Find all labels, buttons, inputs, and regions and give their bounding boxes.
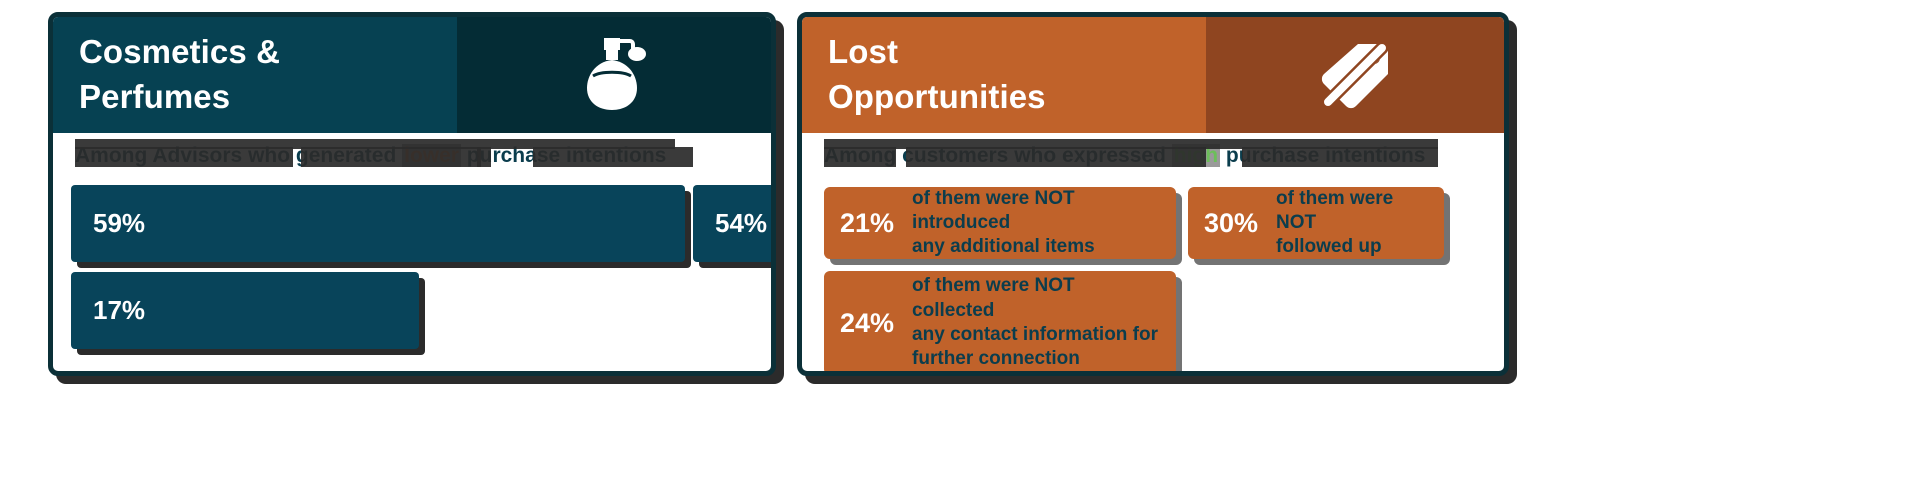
card-body: Lost Opportunities bbox=[797, 12, 1509, 376]
subtitle-strip: Among customers who expressed high purch… bbox=[802, 133, 1504, 179]
tag-slash-icon bbox=[1312, 32, 1398, 118]
bar-59: 59% bbox=[71, 185, 685, 262]
redaction-bar bbox=[1242, 147, 1438, 167]
stat-description: of them were NOT followed up bbox=[1276, 187, 1430, 260]
stat-percent: 24% bbox=[840, 308, 894, 339]
subtitle-strip: Among Advisors who generated lower purch… bbox=[53, 133, 771, 179]
bar-value: 59% bbox=[93, 208, 145, 239]
bar-value: 54% bbox=[715, 208, 767, 239]
redaction-bar bbox=[824, 147, 896, 167]
card-header: Cosmetics & Perfumes bbox=[53, 17, 771, 133]
header-title-zone: Lost Opportunities bbox=[802, 17, 1206, 133]
header-icon-zone bbox=[1206, 17, 1504, 133]
bar-row: 17% bbox=[71, 272, 771, 349]
card-lost-opportunities: Lost Opportunities bbox=[797, 12, 1509, 376]
stat-box-21: 21% of them were NOT introduced any addi… bbox=[824, 187, 1176, 259]
card-cosmetics-perfumes: Cosmetics & Perfumes bbox=[48, 12, 776, 376]
stat-percent: 21% bbox=[840, 208, 894, 239]
stat-row: 24% of them were NOT collected any conta… bbox=[824, 271, 1504, 375]
stat-row: 21% of them were NOT introduced any addi… bbox=[824, 187, 1504, 259]
card-title: Lost Opportunities bbox=[828, 30, 1046, 120]
redaction-bar bbox=[75, 139, 675, 149]
bar-value: 17% bbox=[93, 295, 145, 326]
stat-box-30: 30% of them were NOT followed up bbox=[1188, 187, 1444, 259]
stat-box-24: 24% of them were NOT collected any conta… bbox=[824, 271, 1176, 375]
redaction-bar bbox=[824, 139, 1438, 149]
bar-17: 17% bbox=[71, 272, 419, 349]
redaction-bar bbox=[477, 147, 491, 167]
redaction-bar bbox=[906, 147, 1206, 167]
header-title-zone: Cosmetics & Perfumes bbox=[53, 17, 457, 133]
slide-canvas: Cosmetics & Perfumes bbox=[0, 0, 1905, 477]
redaction-bar bbox=[75, 147, 293, 167]
stat-description: of them were NOT collected any contact i… bbox=[912, 274, 1162, 371]
redaction-bar bbox=[301, 147, 481, 167]
stats-area: 21% of them were NOT introduced any addi… bbox=[802, 179, 1504, 375]
header-icon-zone bbox=[457, 17, 771, 133]
card-body: Cosmetics & Perfumes bbox=[48, 12, 776, 376]
bar-row: 59% 54% bbox=[71, 185, 776, 262]
bars-area: 59% 54% 17% bbox=[53, 179, 771, 349]
perfume-bottle-icon bbox=[571, 32, 657, 118]
card-title: Cosmetics & Perfumes bbox=[79, 30, 280, 120]
card-header: Lost Opportunities bbox=[802, 17, 1504, 133]
redaction-bar bbox=[533, 147, 693, 167]
bar-54: 54% bbox=[693, 185, 776, 262]
stat-description: of them were NOT introduced any addition… bbox=[912, 187, 1162, 260]
stat-percent: 30% bbox=[1204, 208, 1258, 239]
